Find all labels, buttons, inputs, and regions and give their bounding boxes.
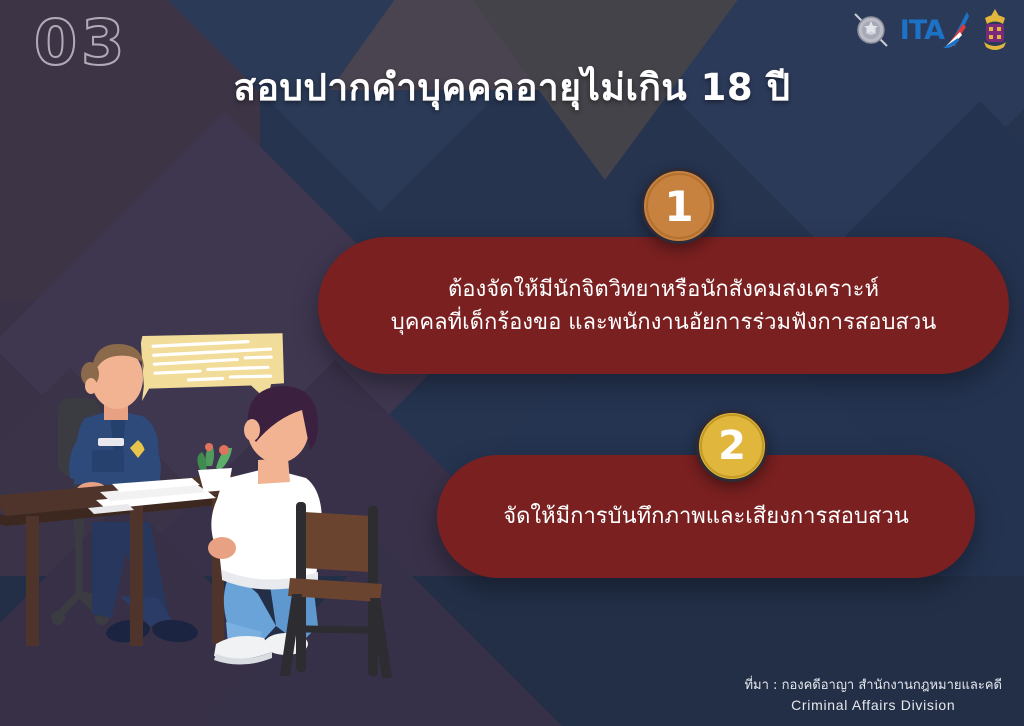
card-1-line-1: ต้องจัดให้มีนักจิตวิทยาหรือนักสังคมสงเคร… (391, 273, 937, 306)
police-emblem-icon (851, 8, 891, 52)
slide-canvas: 03 ITA (0, 0, 1024, 726)
ita-logo: ITA (900, 8, 971, 52)
footer-attribution: ที่มา : กองคดีอาญา สำนักงานกฎหมายและคดี … (744, 676, 1002, 717)
content-card-1: ต้องจัดให้มีนักจิตวิทยาหรือนักสังคมสงเคร… (318, 237, 1009, 374)
card-2-line-1: จัดให้มีการบันทึกภาพและเสียงการสอบสวน (503, 500, 909, 533)
ita-logo-text: ITA (900, 17, 944, 44)
wooden-chair (280, 502, 392, 678)
step-badge-1: 1 (641, 168, 717, 244)
content-card-2: จัดให้มีการบันทึกภาพและเสียงการสอบสวน (437, 455, 975, 578)
step-badge-2: 2 (696, 410, 768, 482)
card-1-line-2: บุคคลที่เด็กร้องขอ และพนักงานอัยการร่วมฟ… (391, 306, 937, 339)
illustration-police-interview (0, 326, 400, 726)
footer-thai: ที่มา : กองคดีอาญา สำนักงานกฎหมายและคดี (744, 676, 1002, 696)
content-card-1-text: ต้องจัดให้มีนักจิตวิทยาหรือนักสังคมสงเคร… (391, 273, 937, 339)
content-card-2-text: จัดให้มีการบันทึกภาพและเสียงการสอบสวน (503, 500, 909, 533)
logo-group: ITA (851, 7, 1010, 53)
footer-english: Criminal Affairs Division (744, 695, 1002, 716)
page-title: สอบปากคำบุคคลอายุไม่เกิน 18 ปี (0, 58, 1024, 117)
royal-emblem-icon (980, 8, 1010, 52)
